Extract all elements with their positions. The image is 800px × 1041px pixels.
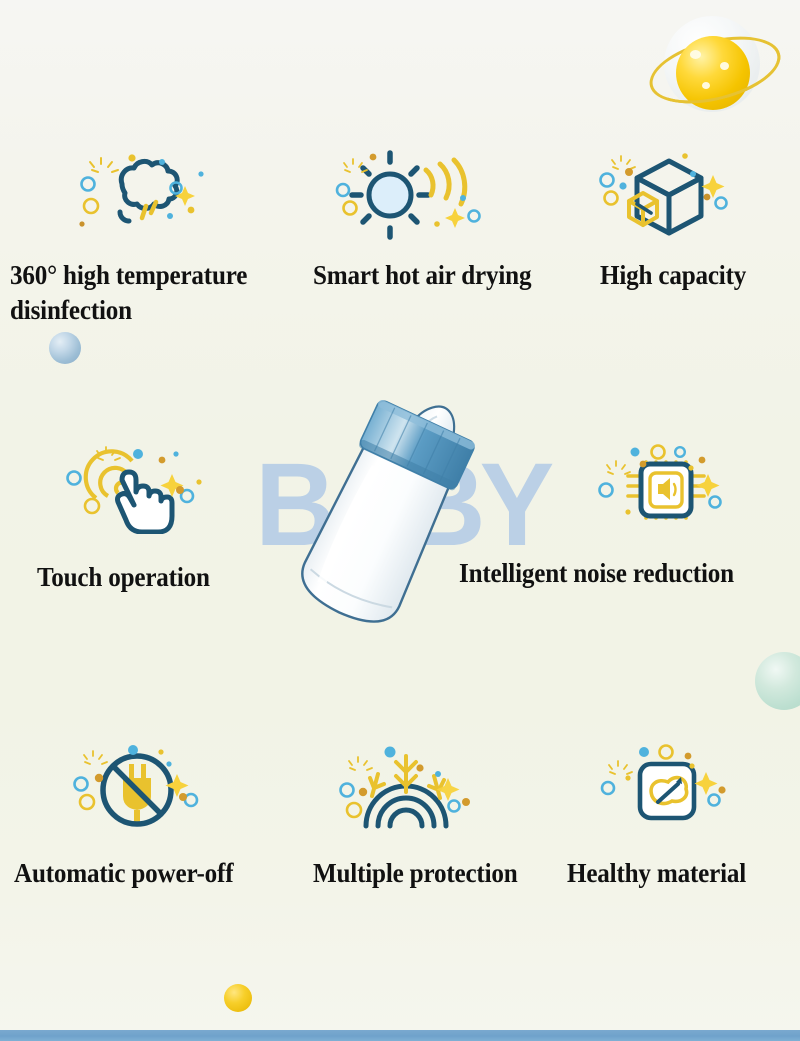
- feature-label-multiple-protection: Multiple protection: [313, 856, 518, 891]
- planet-sphere-decoration: [650, 14, 780, 124]
- feature-label-touch-operation: Touch operation: [37, 560, 210, 595]
- feature-label-automatic-power-off: Automatic power-off: [14, 856, 233, 891]
- chip-speaker-icon: [592, 442, 742, 538]
- rainbow-arch-icon: [330, 740, 490, 836]
- feature-label-healthy-material: Healthy material: [567, 856, 746, 891]
- cube-icon: [595, 148, 745, 240]
- steam-cloud-icon: [70, 150, 220, 240]
- bottom-color-band: [0, 1030, 800, 1041]
- blue-bubble-decoration: [49, 332, 81, 364]
- feature-label-hot-air-drying: Smart hot air drying: [313, 258, 531, 293]
- feature-label-high-capacity: High capacity: [600, 258, 746, 293]
- product-feature-poster: 360° high temperature disinfection: [0, 0, 800, 1041]
- sun-drying-icon: [330, 150, 490, 240]
- leaf-square-icon: [592, 740, 742, 836]
- baby-bottle-image: [234, 325, 563, 680]
- feature-label-high-temp-disinfection: 360° high temperature disinfection: [10, 258, 298, 327]
- gold-bubble-decoration: [224, 984, 252, 1012]
- touch-hand-icon: [62, 438, 212, 534]
- mint-bubble-decoration: [755, 652, 800, 710]
- no-plug-icon: [65, 740, 215, 836]
- feature-label-noise-reduction: Intelligent noise reduction: [459, 556, 734, 591]
